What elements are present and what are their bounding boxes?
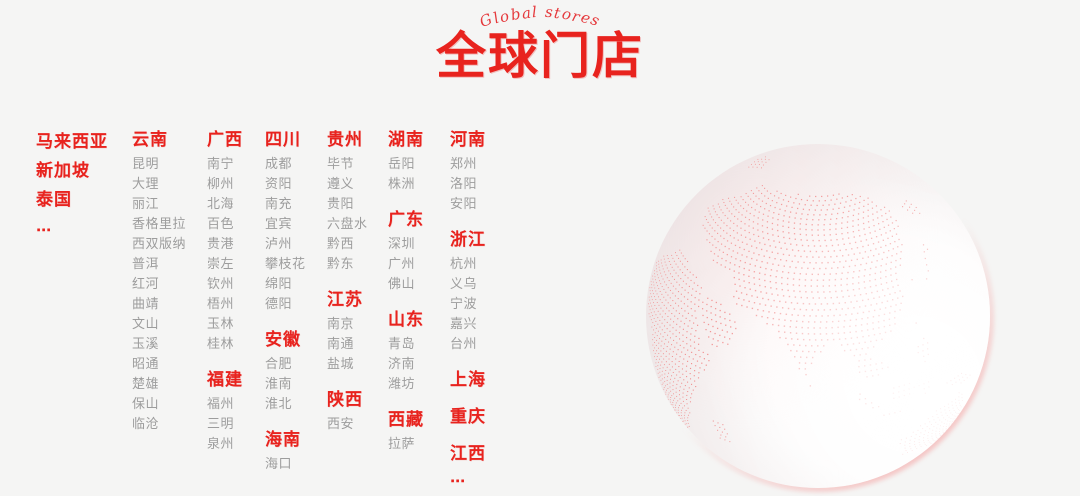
region-header[interactable]: 四川 <box>265 128 306 152</box>
city-list: 合肥淮南淮北 <box>265 355 306 415</box>
region-header[interactable]: 福建 <box>207 368 243 392</box>
city-list: 青岛济南潍坊 <box>388 335 424 395</box>
city-item[interactable]: 淮南 <box>265 375 306 395</box>
globe-dot-map-icon <box>646 144 990 488</box>
region-header[interactable]: 安徽 <box>265 328 306 352</box>
city-item[interactable]: 绵阳 <box>265 275 306 295</box>
location-column-countries: 马来西亚新加坡泰国⋯ <box>36 128 108 245</box>
city-item[interactable]: 攀枝花 <box>265 255 306 275</box>
city-item[interactable]: 西安 <box>327 415 368 435</box>
city-item[interactable]: 岳阳 <box>388 155 424 175</box>
page-header: Global stores 全球门店 <box>0 0 1080 105</box>
city-list: 成都资阳南充宜宾泸州攀枝花绵阳德阳 <box>265 155 306 315</box>
kicker-char: l <box>532 4 538 20</box>
region-header[interactable]: 海南 <box>265 428 306 452</box>
city-item[interactable]: 青岛 <box>388 335 424 355</box>
city-item[interactable]: 泉州 <box>207 435 243 455</box>
city-item[interactable]: 黔东 <box>327 255 368 275</box>
city-item[interactable]: 百色 <box>207 215 243 235</box>
city-item[interactable]: 桂林 <box>207 335 243 355</box>
city-item[interactable]: 成都 <box>265 155 306 175</box>
city-list: 南宁柳州北海百色贵港崇左钦州梧州玉林桂林 <box>207 155 243 355</box>
city-item[interactable]: 曲靖 <box>132 295 186 315</box>
city-list: 昆明大理丽江香格里拉西双版纳普洱红河曲靖文山玉溪昭通楚雄保山临沧 <box>132 155 186 435</box>
region-header[interactable]: 云南 <box>132 128 186 152</box>
city-item[interactable]: 三明 <box>207 415 243 435</box>
kicker-char <box>539 4 544 20</box>
region-header[interactable]: 贵州 <box>327 128 368 152</box>
country-header[interactable]: 新加坡 <box>36 157 108 186</box>
city-item[interactable]: 玉溪 <box>132 335 186 355</box>
city-item[interactable]: 南通 <box>327 335 368 355</box>
location-column-guangxi-fujian: 广西南宁柳州北海百色贵港崇左钦州梧州玉林桂林福建福州三明泉州 <box>207 128 243 455</box>
city-list: 海口 <box>265 455 306 475</box>
city-item[interactable]: 洛阳 <box>450 175 486 195</box>
country-header[interactable]: 马来西亚 <box>36 128 108 157</box>
location-column-sichuan-anhui-hainan: 四川成都资阳南充宜宾泸州攀枝花绵阳德阳安徽合肥淮南淮北海南海口 <box>265 128 306 475</box>
kicker-char: a <box>521 5 533 22</box>
city-item[interactable]: 宁波 <box>450 295 486 315</box>
city-item[interactable]: 泸州 <box>265 235 306 255</box>
region-header[interactable]: 河南 <box>450 128 486 152</box>
region-header[interactable]: 广东 <box>388 208 424 232</box>
city-item[interactable]: 嘉兴 <box>450 315 486 335</box>
city-item[interactable]: 郑州 <box>450 155 486 175</box>
city-list: 西安 <box>327 415 368 435</box>
city-item[interactable]: 宜宾 <box>265 215 306 235</box>
city-item[interactable]: 拉萨 <box>388 435 424 455</box>
city-item[interactable]: 盐城 <box>327 355 368 375</box>
city-item[interactable]: 普洱 <box>132 255 186 275</box>
city-item[interactable]: 海口 <box>265 455 306 475</box>
city-list: 郑州洛阳安阳 <box>450 155 486 215</box>
city-item[interactable]: 钦州 <box>207 275 243 295</box>
city-item[interactable]: 南充 <box>265 195 306 215</box>
city-item[interactable]: 香格里拉 <box>132 215 186 235</box>
city-list: 福州三明泉州 <box>207 395 243 455</box>
city-list: 毕节遵义贵阳六盘水黔西黔东 <box>327 155 368 275</box>
city-item[interactable]: 安阳 <box>450 195 486 215</box>
region-header[interactable]: 江西 <box>450 442 486 466</box>
city-item[interactable]: 南京 <box>327 315 368 335</box>
city-item[interactable]: 保山 <box>132 395 186 415</box>
page-title: 全球门店 <box>0 28 1080 84</box>
city-item[interactable]: 济南 <box>388 355 424 375</box>
city-item[interactable]: 丽江 <box>132 195 186 215</box>
region-header[interactable]: 广西 <box>207 128 243 152</box>
city-item[interactable]: 潍坊 <box>388 375 424 395</box>
location-column-hunan-guangdong-shandong-xizang: 湖南岳阳株洲广东深圳广州佛山山东青岛济南潍坊西藏拉萨 <box>388 128 424 455</box>
city-item[interactable]: 毕节 <box>327 155 368 175</box>
city-item[interactable]: 株洲 <box>388 175 424 195</box>
globe-sphere <box>646 144 990 488</box>
city-item[interactable]: 南宁 <box>207 155 243 175</box>
city-item[interactable]: 贵港 <box>207 235 243 255</box>
region-header[interactable]: 西藏 <box>388 408 424 432</box>
city-list: 深圳广州佛山 <box>388 235 424 295</box>
city-item[interactable]: 合肥 <box>265 355 306 375</box>
city-item[interactable]: 玉林 <box>207 315 243 335</box>
location-column-guizhou-jiangsu-shaanxi: 贵州毕节遵义贵阳六盘水黔西黔东江苏南京南通盐城陕西西安 <box>327 128 368 435</box>
city-item[interactable]: 梧州 <box>207 295 243 315</box>
city-item[interactable]: 德阳 <box>265 295 306 315</box>
region-header[interactable]: 浙江 <box>450 228 486 252</box>
region-header[interactable]: 湖南 <box>388 128 424 152</box>
store-location-columns: 马来西亚新加坡泰国⋯云南昆明大理丽江香格里拉西双版纳普洱红河曲靖文山玉溪昭通楚雄… <box>0 128 620 488</box>
location-column-yunnan: 云南昆明大理丽江香格里拉西双版纳普洱红河曲靖文山玉溪昭通楚雄保山临沧 <box>132 128 186 435</box>
city-item[interactable]: 大理 <box>132 175 186 195</box>
city-item[interactable]: 佛山 <box>388 275 424 295</box>
city-item[interactable]: 崇左 <box>207 255 243 275</box>
city-item[interactable]: 福州 <box>207 395 243 415</box>
city-item[interactable]: 西双版纳 <box>132 235 186 255</box>
city-item[interactable]: 资阳 <box>265 175 306 195</box>
region-header[interactable]: 山东 <box>388 308 424 332</box>
city-list: 岳阳株洲 <box>388 155 424 195</box>
city-list: 拉萨 <box>388 435 424 455</box>
city-item[interactable]: 柳州 <box>207 175 243 195</box>
city-item[interactable]: 淮北 <box>265 395 306 415</box>
city-item[interactable]: 广州 <box>388 255 424 275</box>
city-item[interactable]: 红河 <box>132 275 186 295</box>
region-header[interactable]: 江苏 <box>327 288 368 312</box>
more-countries-ellipsis[interactable]: ⋯ <box>36 215 108 245</box>
city-list: 南京南通盐城 <box>327 315 368 375</box>
city-item[interactable]: 黔西 <box>327 235 368 255</box>
city-item[interactable]: 临沧 <box>132 415 186 435</box>
city-item[interactable]: 昆明 <box>132 155 186 175</box>
city-list: 杭州义乌宁波嘉兴台州 <box>450 255 486 355</box>
city-item[interactable]: 北海 <box>207 195 243 215</box>
location-column-henan-zhejiang-municipalities: 河南郑州洛阳安阳浙江杭州义乌宁波嘉兴台州上海重庆江西⋯ <box>450 128 486 496</box>
city-item[interactable]: 遵义 <box>327 175 368 195</box>
city-item[interactable]: 贵阳 <box>327 195 368 215</box>
city-item[interactable]: 义乌 <box>450 275 486 295</box>
city-item[interactable]: 文山 <box>132 315 186 335</box>
city-item[interactable]: 楚雄 <box>132 375 186 395</box>
city-item[interactable]: 杭州 <box>450 255 486 275</box>
city-item[interactable]: 六盘水 <box>327 215 368 235</box>
region-header[interactable]: 重庆 <box>450 405 486 429</box>
country-header[interactable]: 泰国 <box>36 186 108 215</box>
city-item[interactable]: 深圳 <box>388 235 424 255</box>
city-item[interactable]: 昭通 <box>132 355 186 375</box>
region-header[interactable]: 陕西 <box>327 388 368 412</box>
globe-illustration <box>642 140 994 492</box>
city-item[interactable]: 台州 <box>450 335 486 355</box>
region-header[interactable]: 上海 <box>450 368 486 392</box>
more-regions-ellipsis[interactable]: ⋯ <box>450 466 486 496</box>
